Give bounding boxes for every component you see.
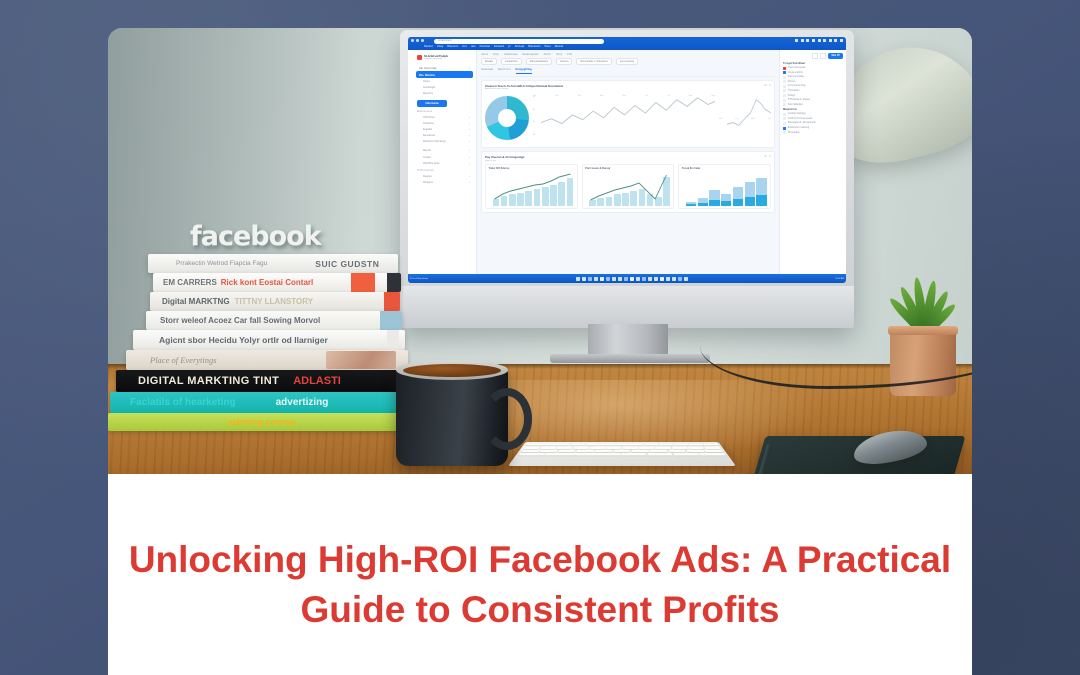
book-subtitle: ADLASTI [293,375,341,387]
toolbar-icon[interactable] [823,39,826,42]
browser-chrome: Imrtconcent Dashor Anay Rlaconrs Hor obo… [408,37,846,50]
facebook-sign-text: facebook [190,221,321,252]
card-menu-icon[interactable] [769,155,771,157]
key [585,443,599,445]
key [672,446,688,448]
status-dot-icon [783,127,786,130]
line-chart-trend: 4k 3k 2k 1k Jan [533,94,715,142]
right-panel-group-title: Tcrsget Smrslitawr [783,62,843,65]
filter-icon[interactable] [820,53,826,59]
system-tray[interactable]: 10:42 AM [835,278,844,280]
bar [686,202,696,206]
sidebar-group-title: Manneveors [417,110,473,113]
bar [745,182,755,205]
donut-chart [485,96,529,140]
key [615,443,629,445]
breadcrumb-item[interactable]: Pritt [567,53,572,56]
taskbar-icon[interactable] [588,277,592,281]
keyboard-row [518,453,725,456]
tab-bar: Ovwenael Reorrl Lirn Ecuqygthtng [481,68,775,77]
checklist-item[interactable]: Sdu Irlatlndgor [783,103,843,106]
sidebar-item-label: Researcan [423,134,435,137]
key [647,453,672,456]
key [539,450,557,453]
checklist-item[interactable]: Roroen [783,80,843,83]
menu-item[interactable]: Anay [437,45,443,48]
checklist-item[interactable]: Cambinl Cadrage [783,113,843,116]
book-title: Prrakectin Wetrod Fiapcia Fagu [176,260,267,267]
status-dot-icon [783,131,786,134]
sidebar-item-active[interactable]: Dts. Maritns [416,71,473,78]
taskbar-icon[interactable] [630,277,634,281]
taskbar-icon[interactable] [654,277,658,281]
chart-row: 4k 3k 2k 1k Jan [485,92,771,144]
menu-item[interactable]: Elemet [555,45,564,48]
checklist-item[interactable]: Arrl onourna lrsig [783,85,843,88]
right-panel-group-title: Meaecnrrce [783,108,843,111]
key [613,450,630,453]
mini-chart-row: Trafer RO Sdenys [485,164,771,210]
status-dot-icon [783,76,786,79]
keyboard-row [521,450,723,453]
checklist-item[interactable]: RIl Grarltorj [783,131,843,134]
key [705,450,724,453]
checklist-label: Roroen [788,81,796,83]
book-subtitle: TITTNY LLANSTORY [235,297,314,306]
y-tick: 1k [533,134,535,136]
sidebar-group-title: Prrformanops [417,169,473,172]
chevron-down-icon: › [469,66,470,70]
minimize-icon[interactable] [829,39,832,42]
taskbar-icon[interactable] [636,277,640,281]
screen-content: Imrtconcent Dashor Anay Rlaconrs Hor obo… [408,37,846,283]
browser-tab-dot[interactable] [416,39,419,42]
menu-item[interactable]: Rlesanien [528,45,540,48]
sidebar-subitem[interactable]: Acionlinget [416,85,473,91]
maximize-icon[interactable] [834,39,837,42]
imac-monitor: Imrtconcent Dashor Anay Rlaconrs Hor obo… [400,28,860,358]
sidebar-subitem[interactable]: Cloud [416,78,473,84]
book-spine: DIGITAL MARKTING TINT ADLASTI [116,370,408,392]
brand-subtitle: analytics ad marktr [424,58,448,60]
y-tick: 3k [533,109,535,111]
hero-photo: Imrtconcent Dashor Anay Rlaconrs Hor obo… [108,28,972,474]
mini-chart-2: Preir kooen & Ruroqi [582,164,675,210]
taskbar-icon[interactable] [582,277,586,281]
book-spine: Place of Everytings [126,350,408,370]
book-title: Storr weleof Acoez Car fall Sowing Morvo… [160,316,320,325]
key [650,450,668,453]
key [540,443,555,445]
monitor-stand-foot [550,354,710,363]
clock[interactable]: 10:42 AM [835,278,844,280]
filter-bar: Wealtts Lootpartrion Pancolnicarioans Ca… [481,58,775,65]
y-axis: 4k 3k 2k 1k [533,96,535,136]
taskbar-icon[interactable] [660,277,664,281]
overlay-line [493,172,574,206]
address-bar[interactable]: Imrtconcent [434,39,604,44]
card-actions[interactable] [764,155,771,157]
sidebar-subitem[interactable]: Reinbons Olprntings› [416,139,473,145]
page-title: Unlocking High-ROI Facebook Ads: A Pract… [108,535,972,635]
key [556,446,572,448]
y-tick: 2k [533,121,535,123]
plant-pot-lip [888,326,958,335]
key [668,450,686,453]
checklist-label: Trromothon [788,90,800,92]
card-action-icon[interactable] [764,84,766,86]
card-subtitle: Imnrt ol gte [485,160,525,162]
sidebar-item-label: Evgrabs [423,128,432,131]
filter-chip[interactable]: Lootpartrion [501,58,522,65]
toolbar-icon[interactable] [806,39,809,42]
key [699,453,725,456]
keyboard-row [523,446,721,448]
menu-item[interactable]: Rlaconrs [447,45,458,48]
sidebar-subitem[interactable]: Reepas› [416,173,473,179]
browser-tabs[interactable] [411,39,424,42]
taskbar-icon[interactable] [642,277,646,281]
sidebar-subitem[interactable]: WlettPlrs tysos› [416,160,473,166]
taskbar-icon[interactable] [684,277,688,281]
tab-report[interactable]: Reorrl Lirn [498,68,511,74]
key [630,443,644,445]
filter-chip[interactable]: Lac.emsetrhy [616,58,638,65]
checklist-label: Drtings [788,95,795,97]
sidebar-item-label: Cloud [423,80,430,83]
monitor-bezel: Imrtconcent Dashor Anay Rlaconrs Hor obo… [408,37,846,283]
sidebar-subitem[interactable]: Rtnigeos› [416,180,473,186]
checklist-item[interactable]: Edocuqpua A. Mrmarntrellu [783,122,843,125]
book-title: DIGITAL MARKTING TINT [138,375,279,387]
coffee-surface [403,364,501,377]
status-dot-icon [783,71,786,74]
brand: SLbrild wrPodpb analytics ad marktr [417,54,473,60]
chevron-down-icon: › [469,162,470,165]
key [573,446,589,448]
bar [709,190,719,206]
key [655,446,671,448]
chevron-down-icon: › [469,134,470,137]
breadcrumb-item[interactable]: Ainnrn [544,53,552,56]
taskbar-icon[interactable] [648,277,652,281]
close-icon[interactable] [840,39,843,42]
menu-item[interactable]: Frerman [480,45,490,48]
taskbar-icons[interactable] [576,277,688,281]
key [523,446,540,448]
sidebar-item-label: Ale Ovecnriap [419,66,437,70]
stacked-bar-series [686,176,767,206]
overlay-line [589,172,670,206]
checklist-label: Sdu Irlatlndgor [788,104,803,106]
book-title: Digital MARKTNG [162,297,230,306]
sidebar-item-label: Dts. Maritns [419,73,435,77]
book-spine: Storr weleof Acoez Car fall Sowing Morvo… [146,311,402,330]
taskbar-icon[interactable] [576,277,580,281]
key [521,450,540,453]
chart-card-overview: Cleanen Srech At ArcruMl.A Grlisperlchan… [481,80,775,149]
taskbar-icon[interactable] [600,277,604,281]
checklist-item[interactable]: Cloule sntcthry [783,71,843,74]
book-spine: EM CARRERS Rick kont Eostai Contarl [153,273,401,292]
sidebar-item-label: Reepas [423,175,432,178]
key [540,446,556,448]
browser-menu-row[interactable]: Dashor Anay Rlaconrs Hor obo Frerman Eca… [424,45,563,48]
checklist-label: Cambinl Cadrage [788,113,806,115]
status-dot-icon [783,99,786,102]
breadcrumb-item[interactable]: Goms [481,53,488,56]
grid-view-icon[interactable] [812,53,818,59]
key [606,446,621,448]
key [595,450,612,453]
chevron-down-icon: › [469,140,470,143]
book-title: Place of Everytings [150,355,217,365]
taskbar-icon[interactable] [678,277,682,281]
status-dot-icon [783,89,786,92]
book-tab [387,273,401,292]
monitor-chin [400,286,854,328]
key [639,446,654,448]
mini-chart-3: Torsal 8rv Indar [678,164,771,210]
spacebar-key [545,453,620,456]
book-spine: Prrakectin Wetrod Fiapcia Fagu SUIC GUDS… [148,254,398,273]
chevron-down-icon: › [469,116,470,119]
book-stack: facebook Prrakectin Wetrod Fiapcia Fagu … [108,223,408,378]
checklist-label: Arrl onourna lrsig [788,85,806,87]
menu-item[interactable]: Pasu [545,45,551,48]
key [590,446,605,448]
mini-chart-1: Trafer RO Sdenys [485,164,578,210]
key [659,443,673,445]
keyboard-row [525,443,718,445]
mini-chart-title: Torsal 8rv Indar [682,167,768,170]
book-cover-art [326,351,396,369]
taskbar-icon[interactable] [666,277,670,281]
sidebar-item-label: Reinbons Olprntings [423,140,446,143]
toolbar-icon[interactable] [812,39,815,42]
line-series [541,94,715,134]
breadcrumb-item[interactable]: Sorry [556,53,562,56]
bar [698,198,708,206]
sidebar-subitem[interactable]: Evgrabs› [416,126,473,132]
key [686,450,704,453]
key [704,446,721,448]
y-tick: 4k [533,96,535,98]
book-subtitle: Rick kont Eostai Contarl [221,278,313,287]
taskbar-icon[interactable] [618,277,622,281]
keyboard [508,442,736,466]
key [558,450,576,453]
menu-item[interactable]: Antsept [515,45,525,48]
book-tab [384,292,400,311]
sidebar-item-label: Resontry [423,92,433,95]
breadcrumb-item[interactable]: Retatl questto [523,53,539,56]
card-actions[interactable] [764,84,771,86]
checklist-item[interactable]: PTTvillonte.A. Srapes [783,99,843,102]
key [673,453,699,456]
book-spine: Digital MARKTNG TITTNY LLANSTORY [150,292,400,311]
checklist-item[interactable]: Trustl cocorveras [783,67,843,70]
bar [733,187,743,206]
x-tick: Mon [719,118,723,120]
key [518,453,544,456]
taskbar-icon[interactable] [606,277,610,281]
book-tab [387,330,399,350]
filter-chip[interactable]: Wealtts [481,58,497,65]
key [632,450,649,453]
start-area[interactable]: 44 .fu.S lbn tnlrare [410,278,428,280]
sidebar-subitem[interactable]: Resontry [416,91,473,97]
taskbar-icon[interactable] [624,277,628,281]
book-spine: Agicnt sbor Hecidu Yolyr ortlr od Ilarni… [133,330,405,350]
sidebar-item-label: TArtactna [423,122,434,125]
key [704,443,719,445]
toolbar-icon[interactable] [801,39,804,42]
checklist-item[interactable]: Drtings [783,94,843,97]
menu-item[interactable]: Dashor [424,45,433,48]
right-panel-cta-button[interactable]: Silar Prl [828,53,843,59]
card-subtitle: Antomat tlc asoc nartlan [485,88,563,90]
status-dot-icon [783,94,786,97]
app-sidebar: SLbrild wrPodpb analytics ad marktr Ale … [408,50,477,283]
checklist-label: Crrsll Cl.Crl tcoes peeirs [788,118,813,120]
sidebar-item-overview[interactable]: Ale Ovecnriap› [416,64,473,71]
checklist-item[interactable]: Ersclorroon rnannlug [783,127,843,130]
toolbar-icon[interactable] [795,39,798,42]
status-dot-icon [783,103,786,106]
book-spine: arketing course [108,413,408,431]
checklist-label: Cloule sntcthry [788,72,803,74]
line-chart-peak: Mon Tue Wed Thu [719,94,771,142]
chart-card-performance: Pay Oversn.& Gl Gotgoatgn Imnrt ol gte T… [481,151,775,213]
toolbar-icon[interactable] [818,39,821,42]
checklist-label: Trustl cocorveras [788,67,806,69]
taskbar-icon[interactable] [612,277,616,281]
breadcrumb-item[interactable]: Ansp [493,53,499,56]
checklist-label: Ersclorroon rnannlug [788,127,809,129]
chevron-down-icon: › [469,122,470,125]
app-main: Goms Ansp Catalomses Retatl questto Ainn… [477,50,779,283]
filter-chip[interactable]: Roucrehrtas = Imanprlecs [576,58,611,65]
windows-taskbar: 44 .fu.S lbn tnlrare [408,274,846,283]
key [623,446,638,448]
window-controls[interactable] [795,39,843,42]
book-title: EM CARRERS [163,278,217,287]
key [555,443,569,445]
sidebar-item-label: Acionlinget [423,86,435,89]
breadcrumb: Goms Ansp Catalomses Retatl questto Ainn… [481,53,775,56]
book-tab [380,311,402,330]
sidebar-item-label: WlettPlrs tysos [423,162,440,165]
mug-handle [482,388,532,450]
status-dot-icon [783,113,786,116]
checklist-label: Parli nocurodae [788,76,804,78]
taskbar-icon[interactable] [672,277,676,281]
book-tab [351,273,375,292]
key [674,443,688,445]
card-menu-icon[interactable] [769,84,771,86]
browser-tab-dot[interactable] [411,39,414,42]
menu-item[interactable]: obo [471,45,476,48]
book-title: arketing course [228,417,295,427]
checklist-label: RIl Grarltorj [788,132,800,134]
checklist-item[interactable]: Parli nocurodae [783,76,843,79]
brand-logo-icon [417,55,422,60]
mini-chart-title: Preir kooen & Ruroqi [585,167,671,170]
chevron-down-icon: › [469,156,470,159]
key [525,443,540,445]
filter-chip[interactable]: Pancolnicarioans [526,58,552,65]
menu-item[interactable]: yr [508,45,510,48]
key [689,443,704,445]
chevron-down-icon: › [469,149,470,152]
sidebar-item-label: OSOTIcps [423,116,435,119]
title-card: Unlocking High-ROI Facebook Ads: A Pract… [108,474,972,675]
book-subtitle: advertizing [276,397,329,408]
key [688,446,704,448]
right-panel-toolbar: Silar Prl [783,53,843,59]
key [600,443,614,445]
status-dot-icon [783,85,786,88]
taskbar-icon[interactable] [594,277,598,281]
browser-tab-dot[interactable] [421,39,424,42]
coffee-mug [396,360,516,468]
breadcrumb-item[interactable]: Catalomses [504,53,518,56]
address-bar-text: Imrtconcent [438,39,452,42]
card-title: Pay Oversn.& Gl Gotgoatgn [485,155,525,159]
status-dot-icon [783,122,786,125]
checklist-label: PTTvillonte.A. Srapes [788,99,810,101]
status-dot-icon [783,80,786,83]
facebook-sign: facebook [190,221,330,255]
app-right-panel: Silar Prl Tcrsget Smrslitawr Trustl coco… [779,50,846,283]
key [570,443,584,445]
bar [721,194,731,206]
peak-series [727,94,771,132]
sidebar-item-label: Rancht [423,149,431,152]
start-button-label[interactable]: 44 .fu.S lbn tnlrare [410,278,428,280]
key [576,450,594,453]
menu-item[interactable]: Hor [462,45,466,48]
sidebar-cta-button[interactable]: Aliturivaine [417,100,447,107]
sidebar-item-label: Rtnigeos [423,181,433,184]
tab-overview[interactable]: Ovwenael [481,68,493,74]
book-spine: Faclatils of hearketing advertizing [110,392,408,413]
chevron-down-icon: › [469,181,470,184]
chevron-down-icon: › [469,175,470,178]
mini-chart-title: Trafer RO Sdenys [489,167,575,170]
chevron-down-icon: › [469,128,470,131]
sidebar-item-label: Crstois [423,156,431,159]
checklist-item[interactable]: Crrsll Cl.Crl tcoes peeirs [783,117,843,120]
app-body: SLbrild wrPodpb analytics ad marktr Ale … [408,50,846,283]
card-title: Cleanen Srech At ArcruMl.A Grlisperlchan… [485,84,563,88]
card-action-icon[interactable] [764,155,766,157]
book-title-alt: SUIC GUDSTN [315,259,379,269]
key [645,443,659,445]
filter-chip[interactable]: Canrent [556,58,573,65]
menu-item[interactable]: Ecaverd [494,45,504,48]
checklist-item[interactable]: Trromothon [783,89,843,92]
sidebar-subitem[interactable]: Researcan› [416,133,473,139]
book-title: Agicnt sbor Hecidu Yolyr ortlr od Ilarni… [159,335,328,345]
bar [756,178,766,206]
book-title: Faclatils of hearketing [130,397,236,408]
key [621,453,646,456]
checklist-label: Edocuqpua A. Mrmarntrellu [788,122,816,124]
status-dot-icon [783,117,786,120]
tab-selected[interactable]: Ecuqygthtng [516,68,532,74]
